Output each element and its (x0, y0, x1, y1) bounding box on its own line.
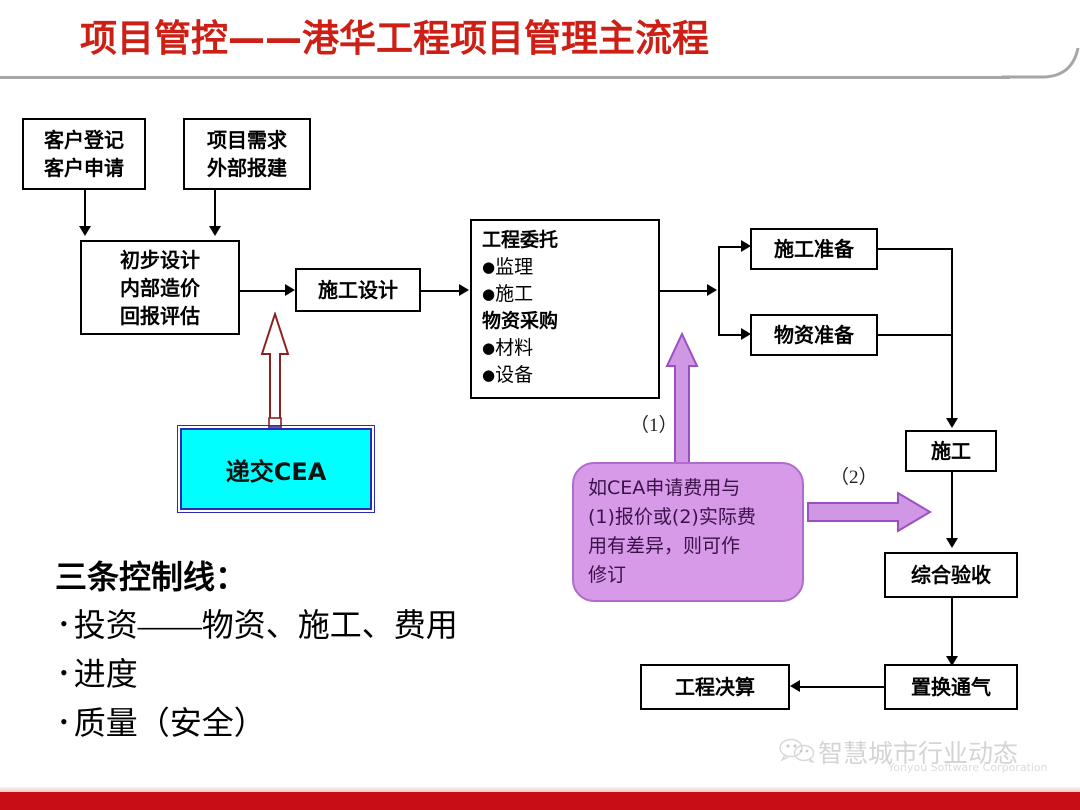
entrust-item-supervision-label: 监理 (495, 256, 533, 278)
connector-merge-vertical (951, 248, 953, 420)
control-line-item-quality: •质量（安全） (60, 698, 580, 747)
flow-box-customer-registration[interactable]: 客户登记 客户申请 (22, 118, 146, 190)
arrowhead-right-constdesign (285, 284, 295, 296)
control-line-item-progress: •进度 (60, 649, 580, 698)
bullet-icon: ● (482, 258, 495, 276)
purple-right-arrow-icon (806, 490, 932, 534)
entrust-heading-1: 工程委托 (482, 227, 658, 254)
entrust-item-supervision: ●监理 (482, 254, 658, 281)
cea-difference-callout[interactable]: 如CEA申请费用与 (1)报价或(2)实际费 用有差异，则可作 修订 (572, 462, 804, 602)
connector-construction-to-accept (951, 472, 953, 542)
connector-customer-to-design (84, 190, 86, 228)
header-divider-curve-icon (1002, 46, 1080, 80)
entrust-item-construction: ●施工 (482, 281, 658, 308)
connector-gas-to-settlement (800, 686, 884, 688)
callout-line-3: 用有差异，则可作 (588, 532, 790, 561)
branch-vertical (718, 246, 720, 336)
entrust-item-equipment-label: 设备 (495, 364, 533, 386)
control-line-item-investment: •投资——物资、施工、费用 (60, 600, 580, 649)
bottom-bar (0, 792, 1080, 810)
flow-box-gas-replacement[interactable]: 置换通气 (884, 664, 1018, 710)
slide-canvas: 项目管控——港华工程项目管理主流程 客户登记 客户申请 项目需求 外部报建 初步… (0, 0, 1080, 810)
connector-accept-to-gas (951, 598, 953, 660)
page-title: 项目管控——港华工程项目管理主流程 (80, 14, 840, 64)
entrust-heading-2: 物资采购 (482, 308, 658, 335)
wechat-icon (778, 737, 816, 763)
cea-submit-box[interactable]: 递交CEA (180, 428, 372, 510)
entrust-item-equipment: ●设备 (482, 362, 658, 389)
arrowhead-down-demand (209, 226, 221, 236)
control-lines-title: 三条控制线： (55, 552, 247, 598)
callout-line-1: 如CEA申请费用与 (588, 474, 790, 503)
bullet-icon: • (60, 709, 74, 734)
flow-box-engineering-entrust[interactable]: 工程委托 ●监理 ●施工 物资采购 ●材料 ●设备 (470, 219, 660, 399)
callout-line-2: (1)报价或(2)实际费 (588, 503, 790, 532)
arrowhead-right-branch (707, 284, 717, 296)
control-line-item-investment-label: 投资——物资、施工、费用 (74, 607, 458, 643)
connector-design-to-constdesign (240, 290, 287, 292)
entrust-item-material: ●材料 (482, 335, 658, 362)
control-line-item-progress-label: 进度 (74, 656, 138, 692)
flow-box-comprehensive-acceptance[interactable]: 综合验收 (884, 552, 1018, 598)
entrust-item-construction-label: 施工 (495, 283, 533, 305)
flow-box-project-demand[interactable]: 项目需求 外部报建 (183, 118, 311, 190)
connector-constdesign-to-entrust (421, 290, 461, 292)
bullet-icon: ● (482, 285, 495, 303)
watermark-subtext: Yonyou Software Corporation (888, 761, 1048, 774)
callout-line-4: 修订 (588, 561, 790, 590)
entrust-item-material-label: 材料 (495, 337, 533, 359)
header-divider (0, 76, 1010, 79)
control-line-item-quality-label: 质量（安全） (74, 705, 266, 741)
flow-box-preliminary-design[interactable]: 初步设计 内部造价 回报评估 (80, 240, 240, 335)
connector-entrust-to-branch (660, 290, 712, 292)
label-branch-two: （2） (830, 462, 878, 489)
flow-box-construction[interactable]: 施工 (905, 430, 997, 472)
arrowhead-right-entrust (459, 284, 469, 296)
bullet-icon: ● (482, 339, 495, 357)
connector-demand-to-design (214, 190, 216, 228)
flow-box-project-settlement[interactable]: 工程决算 (640, 664, 790, 710)
connector-constprep-right (878, 248, 953, 250)
arrowhead-left-settlement (790, 680, 800, 692)
bullet-icon: • (60, 611, 74, 636)
bullet-icon: • (60, 660, 74, 685)
control-lines-list: •投资——物资、施工、费用 •进度 •质量（安全） (60, 600, 580, 747)
arrowhead-down-construction (946, 418, 958, 428)
arrowhead-down-customer (79, 226, 91, 236)
connector-matprep-right (878, 334, 953, 336)
purple-up-arrow-icon (663, 332, 701, 472)
cea-up-arrow-icon (255, 312, 295, 434)
flow-box-construction-design[interactable]: 施工设计 (295, 268, 421, 312)
bullet-icon: ● (482, 366, 495, 384)
label-branch-one: （1） (630, 410, 678, 437)
flow-box-construction-prep[interactable]: 施工准备 (750, 228, 878, 270)
watermark: 智慧城市行业动态 Yonyou Software Corporation (778, 735, 1068, 777)
flow-box-material-prep[interactable]: 物资准备 (750, 314, 878, 356)
arrowhead-down-accept (946, 538, 958, 548)
